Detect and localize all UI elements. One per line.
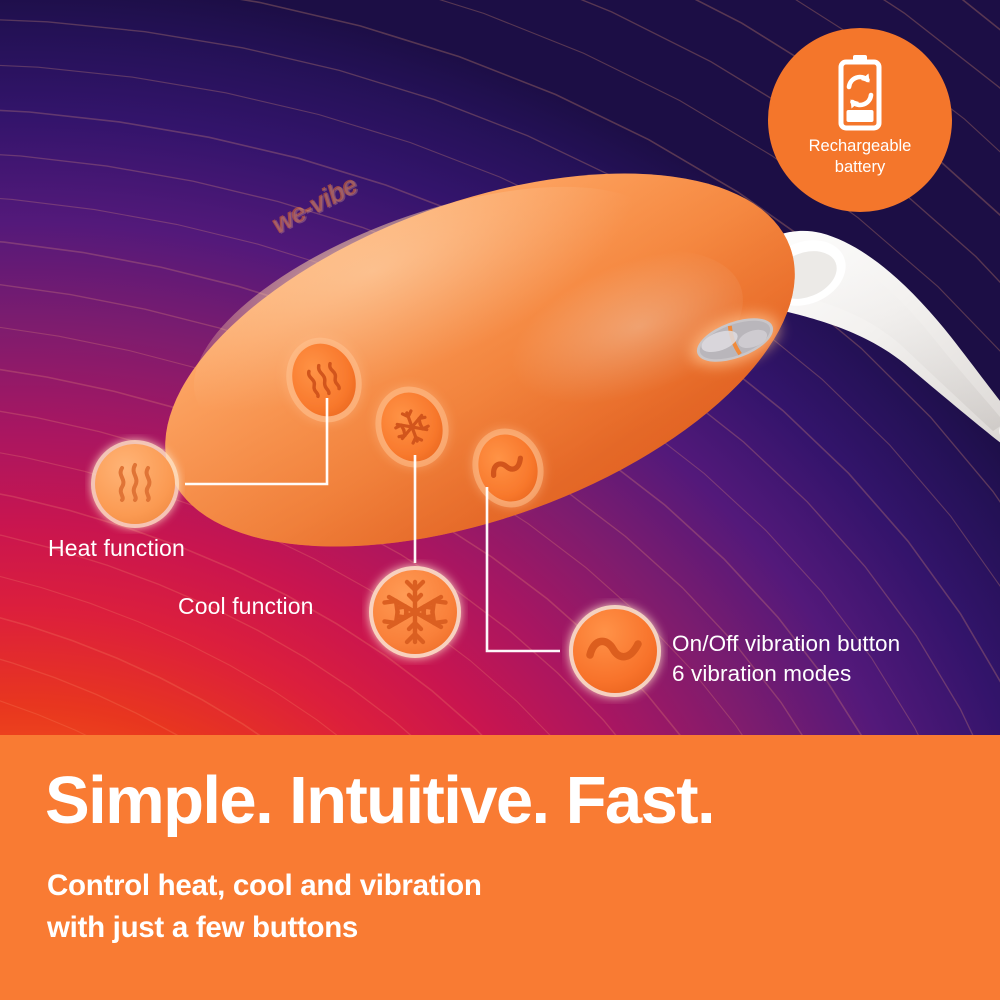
subheadline-line2: with just a few buttons <box>47 907 482 949</box>
callout-label-vibration: On/Off vibration button 6 vibration mode… <box>672 629 900 688</box>
product-feature-graphic: we-vibe we-vibe <box>0 0 1000 1000</box>
callout-label-heat: Heat function <box>48 535 185 562</box>
subheadline-line1: Control heat, cool and vibration <box>47 865 482 907</box>
callout-vibration-circle[interactable] <box>562 598 668 704</box>
rechargeable-battery-icon <box>828 54 892 132</box>
headline: Simple. Intuitive. Fast. <box>45 762 714 839</box>
battery-badge-line1: Rechargeable <box>768 136 952 157</box>
callout-label-vibration-line1: On/Off vibration button <box>672 629 900 659</box>
callout-label-vibration-line2: 6 vibration modes <box>672 659 900 689</box>
callout-label-cool: Cool function <box>178 593 314 620</box>
rechargeable-battery-badge: Rechargeable battery <box>768 28 952 212</box>
callout-cool-circle[interactable] <box>362 559 468 665</box>
subheadline: Control heat, cool and vibration with ju… <box>47 865 482 949</box>
callout-heat-circle[interactable] <box>85 434 185 534</box>
battery-badge-text: Rechargeable battery <box>768 136 952 178</box>
battery-badge-line2: battery <box>768 157 952 178</box>
